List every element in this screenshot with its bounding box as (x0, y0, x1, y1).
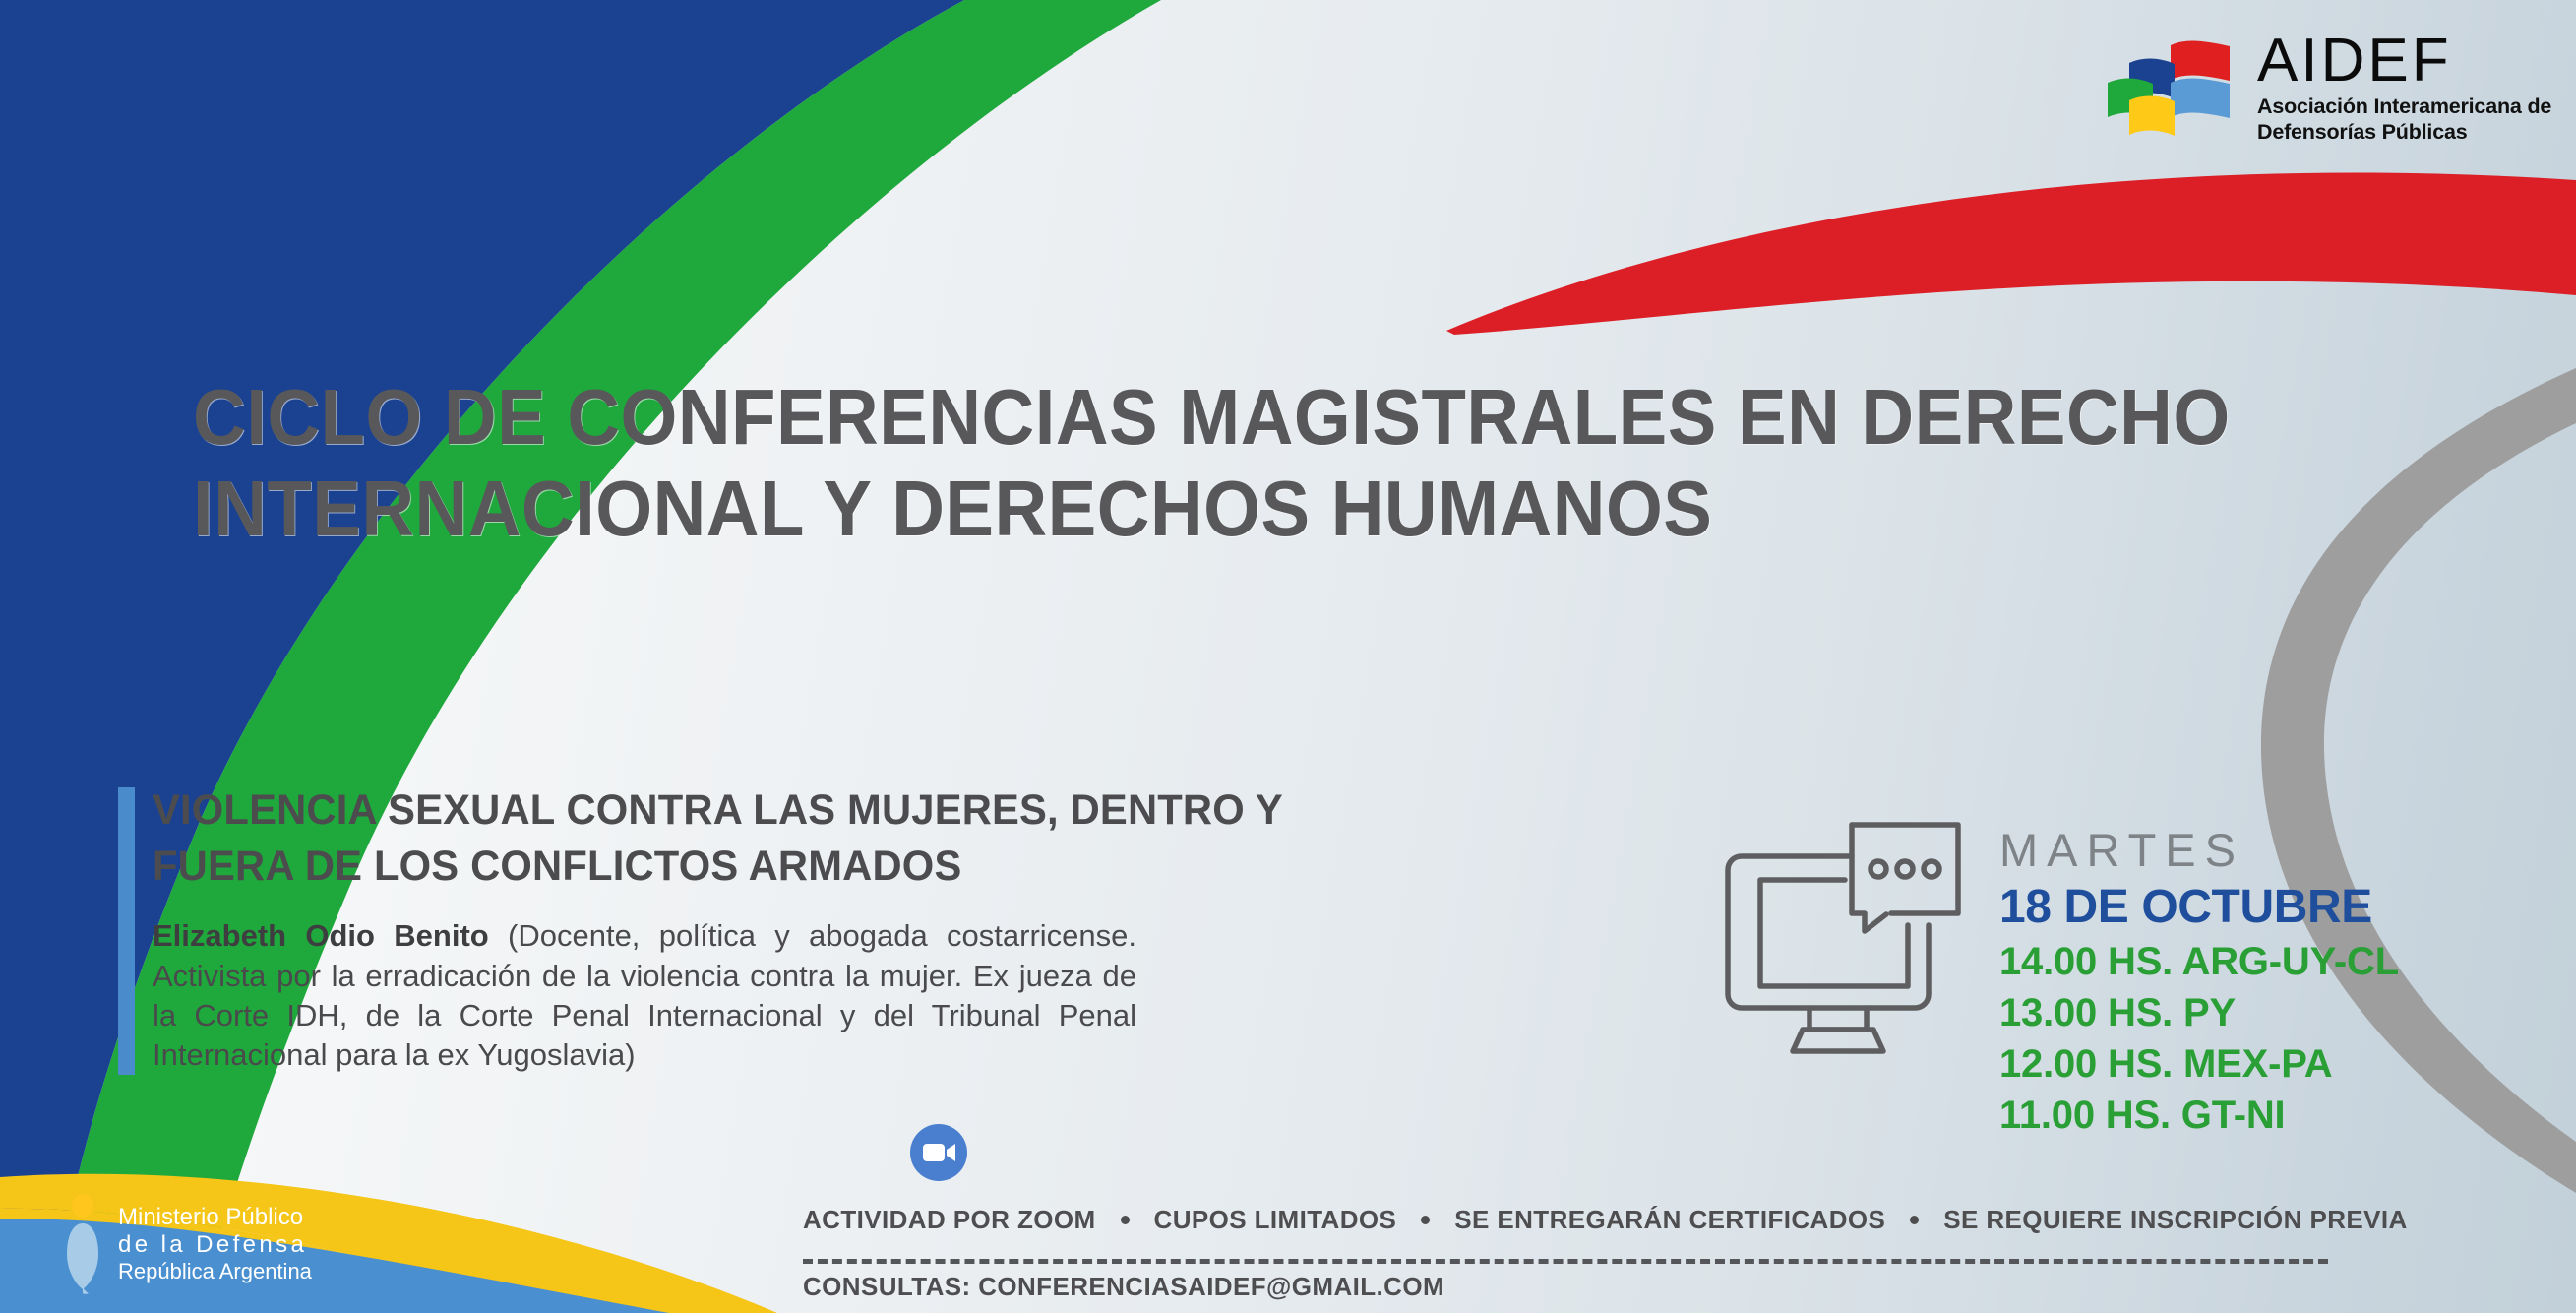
speaker-name: Elizabeth Odio Benito (153, 918, 489, 953)
aidef-logo: AIDEF Asociación Interamericana de Defen… (2106, 30, 2558, 148)
mpd-line1: Ministerio Público (118, 1204, 312, 1231)
info-separator-dot (1910, 1216, 1919, 1224)
page-title: CICLO DE CONFERENCIAS MAGISTRALES EN DER… (193, 372, 1987, 555)
conference-flyer: AIDEF Asociación Interamericana de Defen… (0, 0, 2576, 1313)
monitor-chat-icon (1714, 815, 1970, 1061)
info-item-2: SE ENTREGARÁN CERTIFICADOS (1454, 1205, 1885, 1235)
schedule-time-2: 12.00 HS. MEX-PA (1999, 1038, 2550, 1090)
page-title-line1: CICLO DE CONFERENCIAS MAGISTRALES EN DER… (193, 372, 1987, 464)
schedule-date: 18 DE OCTUBRE (1999, 879, 2550, 937)
talk-title: VIOLENCIA SEXUAL CONTRA LAS MUJERES, DEN… (153, 782, 1107, 895)
mpd-line3: República Argentina (118, 1259, 312, 1284)
schedule-time-0: 14.00 HS. ARG-UY-CL (1999, 936, 2550, 987)
schedule-weekday: MARTES (1999, 825, 2550, 877)
schedule-block: MARTES 18 DE OCTUBRE 14.00 HS. ARG-UY-CL… (1999, 825, 2550, 1141)
zoom-camera-icon (909, 1123, 968, 1182)
info-row: ACTIVIDAD POR ZOOM CUPOS LIMITADOS SE EN… (803, 1205, 2408, 1235)
info-item-3: SE REQUIERE INSCRIPCIÓN PREVIA (1943, 1205, 2407, 1235)
contact-email: CONSULTAS: CONFERENCIASAIDEF@GMAIL.COM (803, 1272, 1444, 1302)
talk-title-line1: VIOLENCIA SEXUAL CONTRA LAS MUJERES, DEN… (153, 782, 1107, 839)
green-band-shape (51, 0, 1161, 1313)
red-swoosh-shape (1446, 172, 2576, 335)
info-item-0: ACTIVIDAD POR ZOOM (803, 1205, 1096, 1235)
aidef-flags-icon (2106, 39, 2236, 138)
schedule-time-3: 11.00 HS. GT-NI (1999, 1090, 2550, 1141)
schedule-time-1: 13.00 HS. PY (1999, 987, 2550, 1038)
speaker-bio: Elizabeth Odio Benito (Docente, política… (153, 916, 1136, 1075)
navy-corner-shape (0, 0, 964, 1313)
mpd-figure-icon (61, 1193, 104, 1295)
aidef-wordmark: AIDEF (2257, 32, 2558, 91)
ministerio-publico-logo: Ministerio Público de la Defensa Repúbli… (61, 1185, 356, 1303)
mpd-line2: de la Defensa (118, 1231, 312, 1259)
info-divider (803, 1259, 2328, 1264)
info-separator-dot (1421, 1216, 1430, 1224)
aidef-subtitle-line1: Asociación Interamericana (2257, 94, 2522, 118)
talk-accent-bar (118, 787, 135, 1075)
talk-title-line2: FUERA DE LOS CONFLICTOS ARMADOS (153, 839, 1107, 895)
talk-block: VIOLENCIA SEXUAL CONTRA LAS MUJERES, DEN… (153, 782, 1136, 1076)
page-title-line2: INTERNACIONAL Y DERECHOS HUMANOS (193, 464, 1987, 555)
info-separator-dot (1121, 1216, 1130, 1224)
info-item-1: CUPOS LIMITADOS (1154, 1205, 1397, 1235)
